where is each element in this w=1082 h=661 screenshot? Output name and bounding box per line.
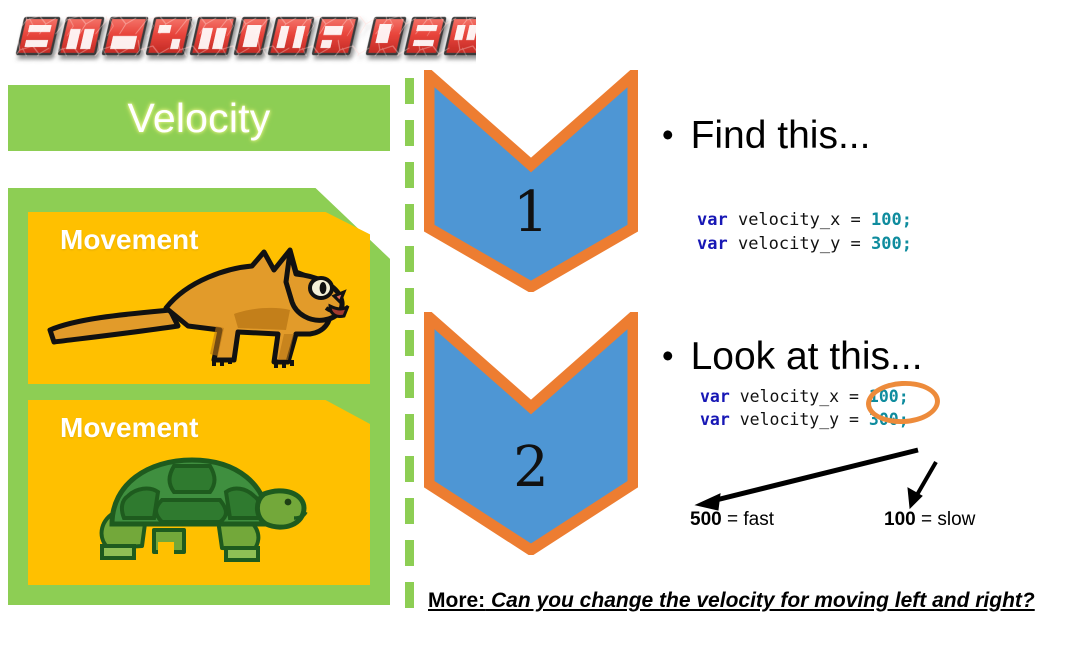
- legend-fast: 500 = fast: [690, 510, 774, 529]
- slide-title-graphic: STARTING LEVEL: [6, 6, 476, 66]
- code-operator: =: [849, 410, 869, 429]
- bullet-marker-icon: •: [662, 337, 674, 375]
- movement-card-slow[interactable]: Movement: [28, 400, 370, 585]
- code-identifier: velocity_x: [730, 387, 849, 406]
- starting-level-wordmark-icon: STARTING LEVEL: [6, 6, 476, 66]
- code-identifier: velocity_y: [730, 410, 849, 429]
- step-chevron-1: 1: [424, 70, 638, 292]
- code-identifier: velocity_y: [728, 234, 851, 254]
- step-number: 2: [424, 440, 638, 496]
- code-operator: =: [851, 234, 871, 254]
- more-challenge-line: More: Can you change the velocity for mo…: [428, 588, 1035, 614]
- bullet-text: Look at this...: [691, 337, 923, 378]
- arrow-to-fast-icon: [708, 450, 918, 502]
- code-keyword: var: [700, 410, 730, 429]
- step-number: 1: [424, 185, 638, 241]
- bullet-text: Find this...: [691, 116, 871, 157]
- legend-equals: =: [916, 509, 938, 530]
- vertical-dashed-divider: [405, 78, 414, 656]
- code-keyword: var: [700, 387, 730, 406]
- bullet-look-at-this: • Look at this...: [662, 337, 923, 378]
- arrow-group-icon: [660, 430, 1000, 515]
- code-block-original: var velocity_x = 100;var velocity_y = 30…: [697, 208, 912, 256]
- code-terminator: ;: [902, 210, 912, 230]
- code-line: var velocity_x = 100;: [697, 208, 912, 232]
- bullet-marker-icon: •: [662, 116, 674, 154]
- section-title-banner: Velocity: [8, 85, 390, 151]
- chevron-down-shape-icon: [424, 312, 638, 555]
- legend-equals: =: [722, 509, 744, 530]
- movement-card-label: Movement: [60, 414, 198, 442]
- code-operator: =: [851, 210, 871, 230]
- slide-canvas: STARTING LEVEL Velocity Movement: [0, 0, 1082, 661]
- code-line: var velocity_y = 300;: [697, 232, 912, 256]
- code-number: 300: [871, 234, 902, 254]
- movement-card-fast[interactable]: Movement: [28, 212, 370, 384]
- wordmark-text: STARTING LEVEL: [6, 63, 8, 64]
- movement-card-label: Movement: [60, 226, 198, 254]
- legend-label: slow: [937, 509, 975, 530]
- code-identifier: velocity_x: [728, 210, 851, 230]
- more-label: More:: [428, 589, 485, 612]
- code-number: 100: [871, 210, 902, 230]
- step-chevron-2: 2: [424, 312, 638, 555]
- legend-value: 100: [884, 509, 916, 530]
- more-question: Can you change the velocity for moving l…: [485, 589, 1035, 612]
- bullet-find-this: • Find this...: [662, 116, 870, 157]
- code-keyword: var: [697, 210, 728, 230]
- turtle-icon: [88, 438, 318, 578]
- legend-label: fast: [743, 509, 774, 530]
- legend-slow: 100 = slow: [884, 510, 975, 529]
- legend-value: 500: [690, 509, 722, 530]
- code-terminator: ;: [902, 234, 912, 254]
- code-keyword: var: [697, 234, 728, 254]
- annotation-arrows: [660, 430, 1000, 515]
- section-title-text: Velocity: [128, 98, 271, 139]
